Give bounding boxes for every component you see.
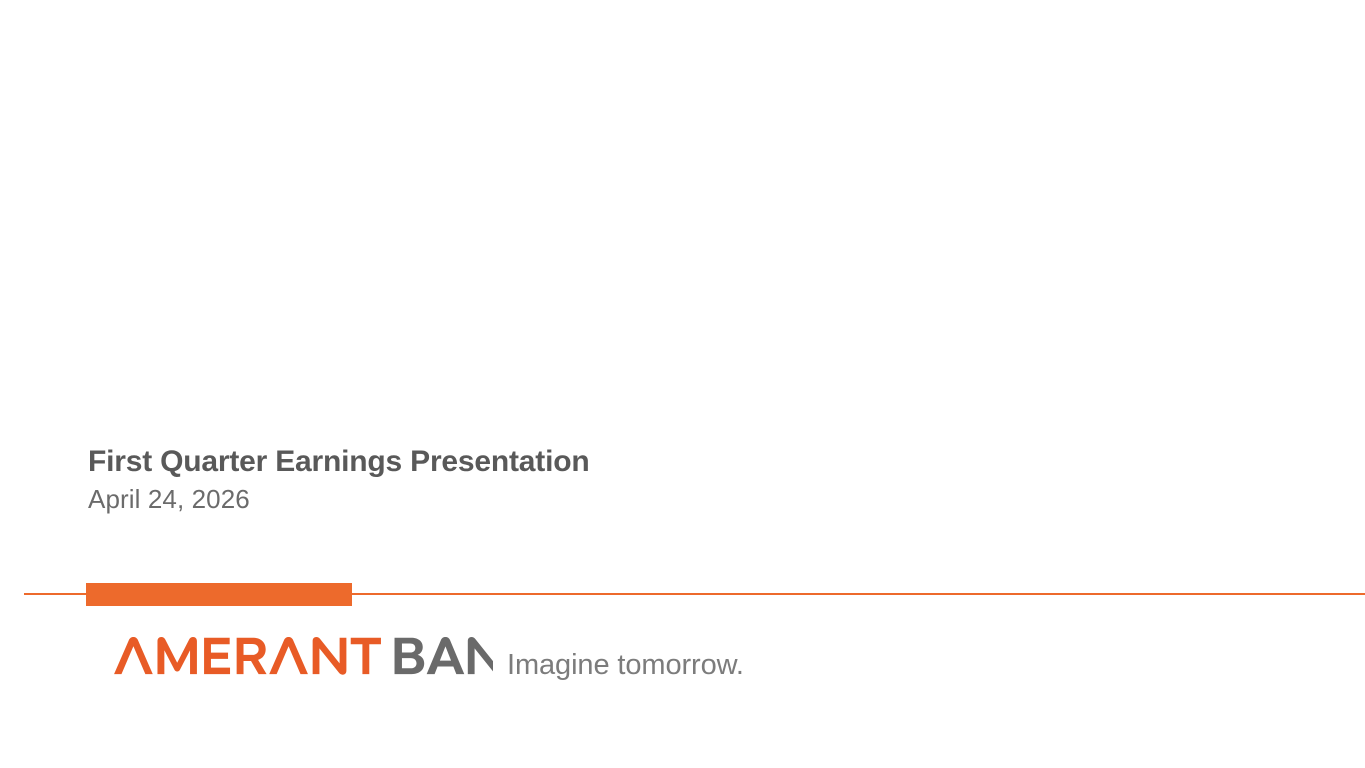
amerant-bank-logo: [97, 637, 493, 675]
presentation-date: April 24, 2026: [88, 483, 988, 516]
amerant-wordmark-glyphs: [114, 637, 381, 675]
brand-tagline: Imagine tomorrow.: [507, 651, 744, 680]
title-slide: First Quarter Earnings Presentation Apri…: [0, 0, 1365, 768]
title-block: First Quarter Earnings Presentation Apri…: [88, 444, 988, 516]
divider-accent-block: [86, 583, 352, 606]
divider: [0, 575, 1365, 615]
logo-lockup: Imagine tomorrow.: [97, 637, 744, 681]
page-title: First Quarter Earnings Presentation: [88, 444, 988, 479]
bank-wordmark-glyphs: [395, 637, 493, 675]
